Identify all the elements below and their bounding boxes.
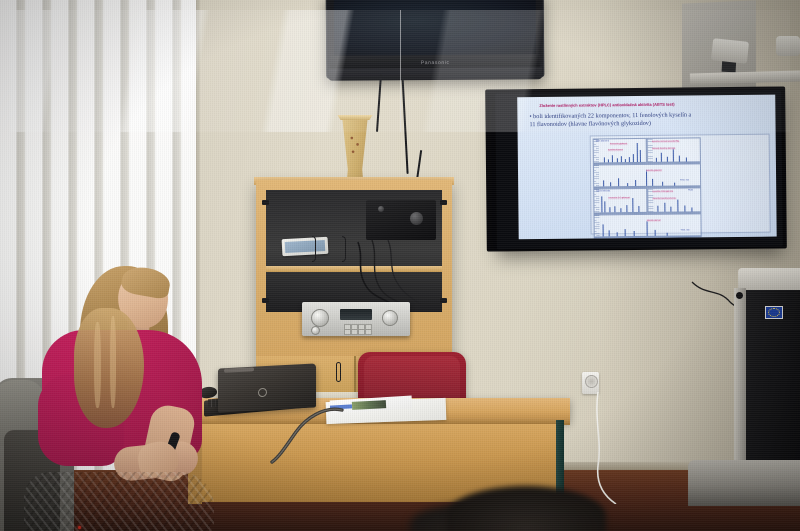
right-cabinet-top	[738, 268, 800, 292]
y-axis	[594, 189, 599, 213]
lower-door-handle[interactable]	[336, 362, 341, 382]
door-hinge	[262, 298, 269, 303]
small-knob-icon[interactable]	[311, 326, 320, 335]
y-axis	[594, 139, 599, 163]
peak-annotation: luteolín-derivát	[647, 220, 661, 222]
hair-strand	[110, 316, 116, 408]
trousers-lap	[24, 472, 214, 531]
control-tablet[interactable]	[282, 237, 329, 256]
panel-label: Rutín	[688, 189, 693, 191]
av-receiver-unit	[366, 200, 436, 240]
peak-annotation: kvercetín-3-O-glukozid	[608, 197, 630, 200]
power-cable	[594, 392, 654, 504]
door-hinge	[440, 200, 447, 205]
amplifier-display	[340, 309, 372, 320]
eu-stars-icon	[768, 308, 780, 317]
door-hinge	[440, 298, 447, 303]
peak-annotation: kyselina kávová	[608, 149, 623, 151]
x-axis-label: Time, min	[681, 229, 690, 231]
cabinet-door-handle[interactable]	[312, 236, 316, 262]
lower-door-divider	[354, 356, 356, 392]
peak-annotation: kyselina chlorogénová	[652, 191, 673, 194]
y-axis	[594, 215, 599, 237]
y-axis	[594, 165, 599, 187]
peak-annotation: kyselina rozmarínová (ACTA)	[652, 141, 680, 144]
cable-bundle	[352, 240, 422, 306]
x-axis-label: Time, min	[680, 179, 689, 181]
tablet-screen	[285, 240, 326, 253]
amplifier-unit[interactable]	[302, 302, 410, 336]
hair-strand	[94, 322, 101, 408]
glass-door-divider	[400, 10, 401, 132]
peak-annotation: deriváty kyseliny kávovej	[652, 198, 676, 201]
peak-annotation: deriváty kyseliny kávovej	[652, 148, 676, 151]
chromatogram-panel: luteolín-glukozid Time, min	[593, 163, 701, 188]
receiver-knob-icon	[378, 206, 384, 212]
peak-annotation: luteolín-glukozid	[646, 170, 662, 172]
socket-outlet-icon	[585, 375, 598, 388]
chromatogram-panel: kvercetín-glukozid kyselina kávová Mäta …	[593, 138, 647, 165]
panel-label: Šalvia lekárska	[596, 190, 610, 192]
chromatogram-panel: luteolín-derivát Time, min	[593, 213, 701, 238]
room-photo-scene: Panasonic Zloženie rastlinných extraktov…	[0, 0, 800, 531]
vase-pattern	[347, 130, 363, 162]
cabinet-door-handle[interactable]	[342, 236, 346, 262]
peak-annotation: kvercetín-glukozid	[610, 143, 628, 145]
door-hinge	[262, 200, 269, 205]
desk-lamp-gooseneck[interactable]	[262, 404, 348, 464]
office-chair-cushion	[364, 356, 460, 402]
tuner-knob-icon[interactable]	[382, 310, 398, 326]
chromatogram-panel: kyselina chlorogénová deriváty kyseliny …	[647, 187, 701, 214]
panel-label: Mäta pieporná	[596, 140, 609, 142]
right-cabinet-frame	[734, 288, 746, 472]
chromatogram-panel: kvercetín-3-O-glukozid Šalvia lekárska	[593, 188, 647, 215]
right-cabinet-knob-icon[interactable]	[736, 292, 743, 299]
slide-figure-chromatograms: kvercetín-glukozid kyselina kávová Mäta …	[590, 134, 771, 235]
receiver-knob-icon	[410, 212, 423, 225]
seated-woman	[18, 266, 208, 531]
volume-knob-icon[interactable]	[311, 309, 329, 327]
chromatogram-panel: kyselina rozmarínová (ACTA) deriváty kys…	[647, 137, 701, 164]
printer-device[interactable]	[688, 460, 800, 506]
